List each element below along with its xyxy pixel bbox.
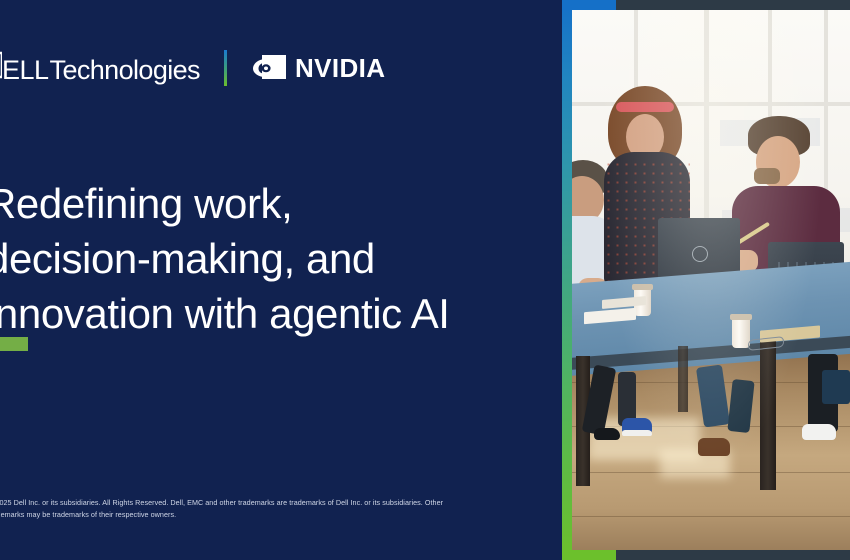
table-leg-rear	[678, 346, 688, 412]
bracket-bottom-green	[562, 550, 616, 560]
shoe	[594, 428, 620, 440]
beard	[754, 168, 780, 184]
sneaker-sole	[622, 430, 652, 436]
headline-line-2: decision-making, and	[0, 231, 562, 286]
dell-wordmark-light: Technologies	[50, 55, 200, 86]
nvidia-eye-icon	[253, 55, 286, 82]
bracket-left-gradient	[562, 0, 572, 560]
dell-wordmark: ELL Technologies	[0, 51, 200, 86]
headline-line-1: Redefining work,	[0, 176, 562, 231]
accent-rule	[0, 337, 28, 351]
headline: Redefining work, decision-making, and in…	[0, 176, 562, 341]
bracket-top-blue	[562, 0, 616, 10]
dell-logo-mark	[0, 51, 2, 84]
bag	[822, 370, 850, 404]
nvidia-wordmark: NVIDIA	[295, 53, 386, 84]
shoe	[698, 438, 730, 456]
photo-area	[562, 0, 850, 560]
copyright-notice: © 2025 Dell Inc. or its subsidiaries. Al…	[0, 497, 478, 521]
logo-divider	[224, 50, 227, 86]
headband	[616, 102, 674, 112]
logo-lockup: ELL Technologies NVIDIA	[0, 48, 386, 88]
coffee-cup-lid	[730, 314, 752, 320]
dell-wordmark-bold: ELL	[2, 55, 49, 86]
laptop-logo	[692, 246, 708, 262]
coffee-cup-lid	[632, 284, 653, 290]
dell-technologies-logo: ELL Technologies	[0, 51, 200, 85]
table-leg	[760, 340, 776, 490]
headline-line-3: innovation with agentic AI	[0, 286, 562, 341]
office-meeting-photo	[572, 10, 850, 550]
floor-plank	[572, 516, 850, 517]
white-sneaker	[802, 424, 836, 440]
presentation-slide: ELL Technologies NVIDIA Rede	[0, 0, 850, 560]
nvidia-logo: NVIDIA	[253, 53, 386, 83]
left-content-panel: ELL Technologies NVIDIA Rede	[0, 0, 562, 560]
